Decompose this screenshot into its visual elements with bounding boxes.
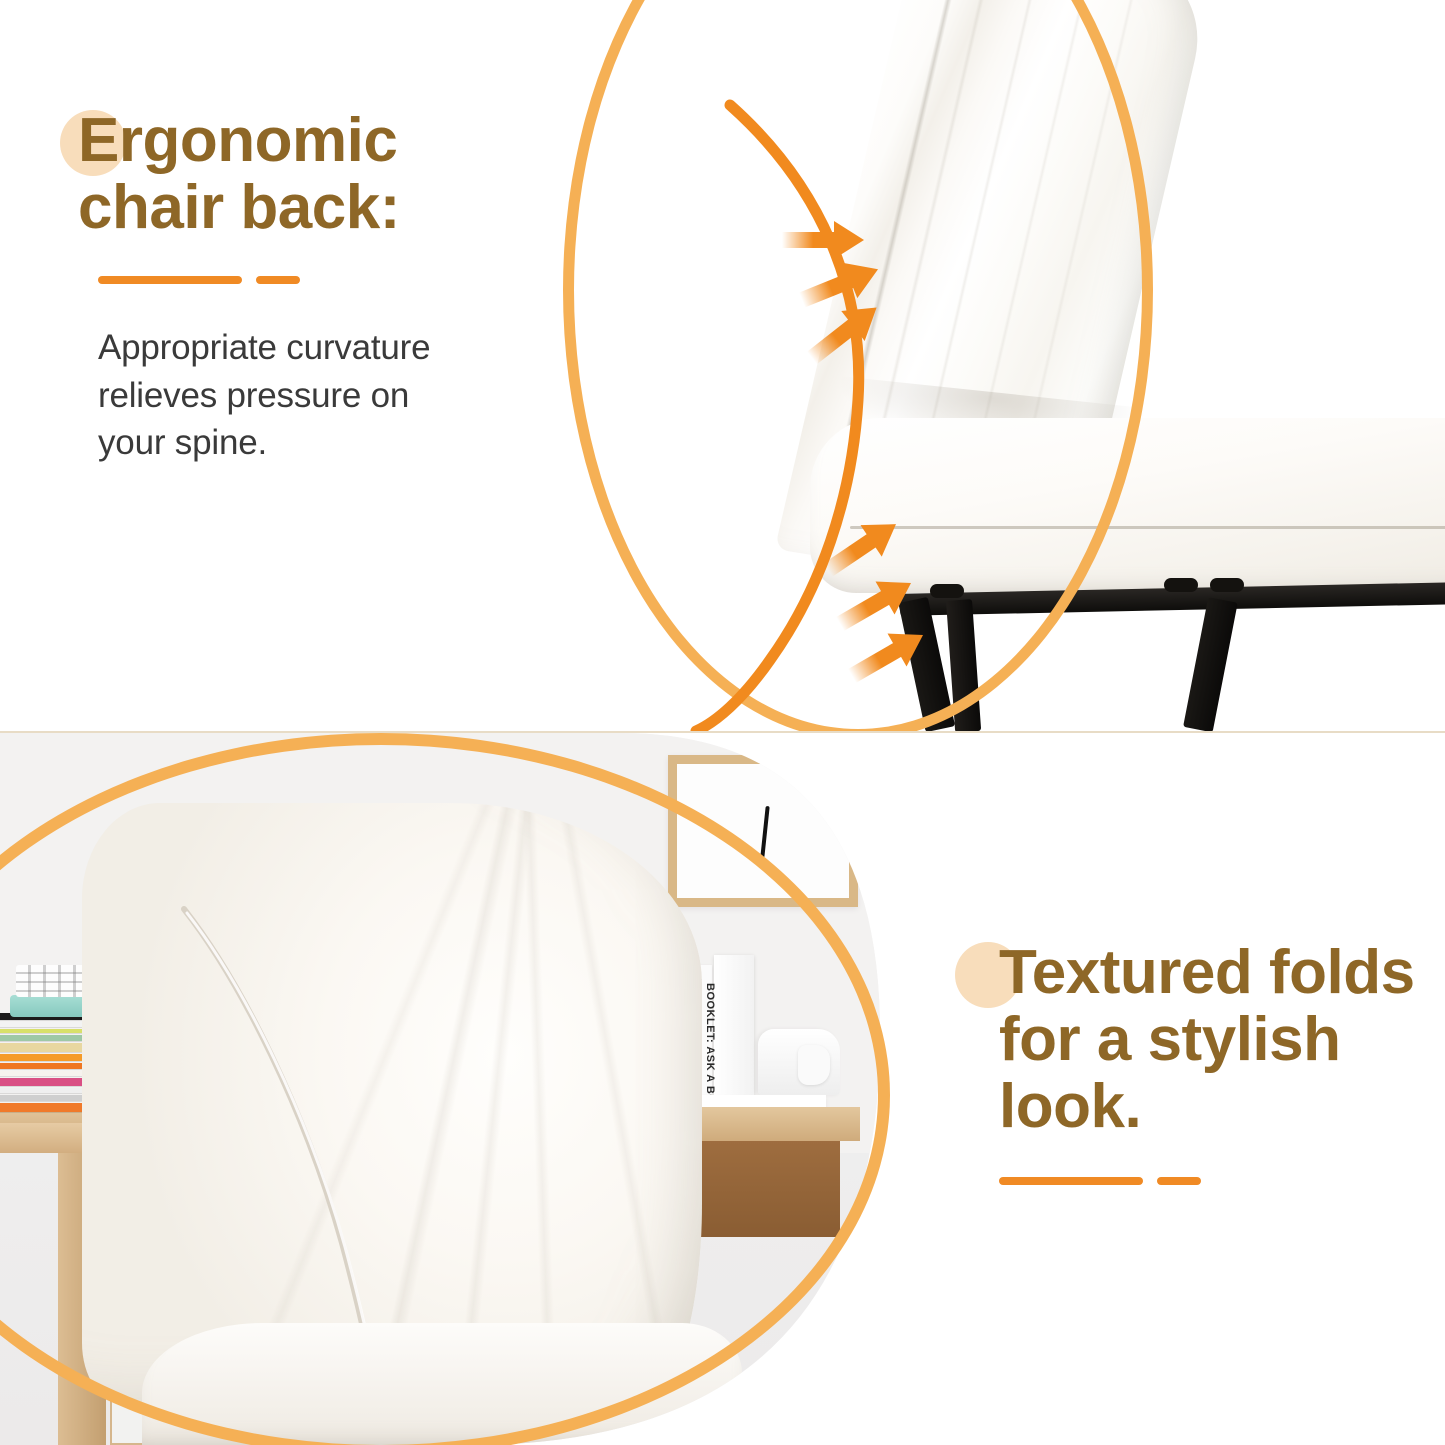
chair-in-room-scene: BOOKLET: ASK A BOOK <box>0 733 900 1445</box>
pressure-arrow <box>843 619 933 693</box>
infographic-canvas: Ergonomic chair back: Appropriate curvat… <box>0 0 1445 1445</box>
bottom-text-block: Textured folds for a stylish look. <box>963 940 1433 1185</box>
chair-seat-lower <box>142 1323 742 1445</box>
elephant-ear <box>798 1045 830 1085</box>
bottom-underline-rule <box>999 1177 1433 1185</box>
room-photo: BOOKLET: ASK A BOOK <box>0 733 900 1445</box>
rule-short-bar <box>1157 1177 1201 1185</box>
top-panel: Ergonomic chair back: Appropriate curvat… <box>0 0 1445 732</box>
chair-photo-lower <box>82 803 722 1445</box>
top-headline: Ergonomic chair back: <box>78 108 548 242</box>
pressure-arrow <box>800 293 888 373</box>
bottom-headline: Textured folds for a stylish look. <box>999 940 1433 1141</box>
frame-line-art <box>760 806 769 858</box>
lumbar-curve-stroke <box>696 105 859 731</box>
top-subcopy: Appropriate curvature relieves pressure … <box>98 324 548 467</box>
ergonomic-chair-scene <box>520 0 1445 731</box>
pressure-arrow <box>831 567 921 641</box>
top-text-block: Ergonomic chair back: Appropriate curvat… <box>78 108 548 467</box>
rule-short-bar <box>256 276 300 284</box>
rule-long-bar <box>999 1177 1143 1185</box>
top-underline-rule <box>98 276 548 284</box>
spine-curve-and-arrows <box>520 0 1445 731</box>
upper-arrow-group <box>782 221 888 373</box>
rule-long-bar <box>98 276 242 284</box>
